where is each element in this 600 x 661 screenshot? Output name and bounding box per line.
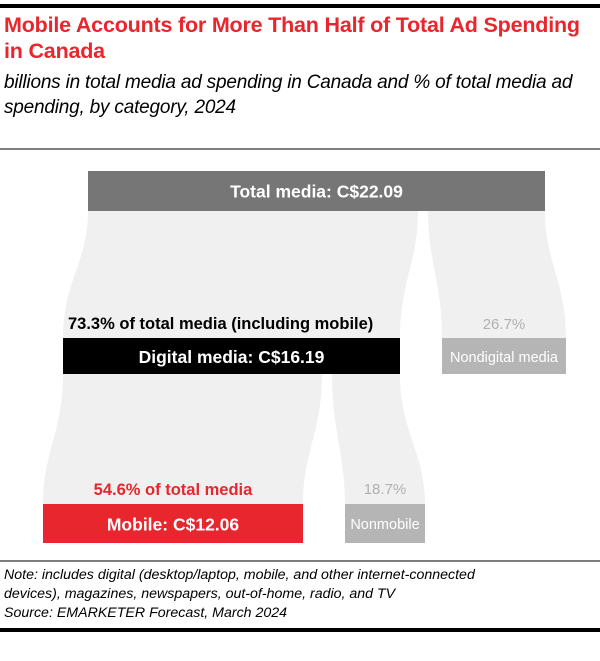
page-title: Mobile Accounts for More Than Half of To… — [4, 12, 596, 64]
note-line-1: Note: includes digital (desktop/laptop, … — [4, 566, 596, 585]
infographic-card: Mobile Accounts for More Than Half of To… — [0, 0, 600, 661]
bar-digital-media-label: Digital media: C$16.19 — [139, 347, 325, 367]
note-divider — [0, 560, 600, 562]
share-label-mobile: 54.6% of total media — [94, 481, 253, 499]
sankey-chart: Total media: C$22.09 73.3% of total medi… — [0, 152, 600, 556]
title-divider — [0, 148, 600, 150]
share-label-digital: 73.3% of total media (including mobile) — [68, 315, 373, 333]
source-line: Source: EMARKETER Forecast, March 2024 — [4, 604, 596, 623]
page-subtitle: billions in total media ad spending in C… — [4, 70, 596, 120]
note-line-2: devices), magazines, newspapers, out-of-… — [4, 585, 596, 604]
header: Mobile Accounts for More Than Half of To… — [0, 12, 600, 120]
footnotes: Note: includes digital (desktop/laptop, … — [0, 566, 600, 623]
top-rule — [0, 4, 600, 8]
bar-total-media-label: Total media: C$22.09 — [230, 182, 403, 202]
share-label-nonmobile: 18.7% — [364, 481, 407, 498]
bottom-rule — [0, 628, 600, 632]
share-label-nondigital: 26.7% — [483, 316, 526, 333]
bar-nondigital-media-label: Nondigital media — [450, 350, 559, 366]
bar-nonmobile-label: Nonmobile — [350, 517, 419, 533]
bar-mobile-label: Mobile: C$12.06 — [107, 515, 240, 535]
